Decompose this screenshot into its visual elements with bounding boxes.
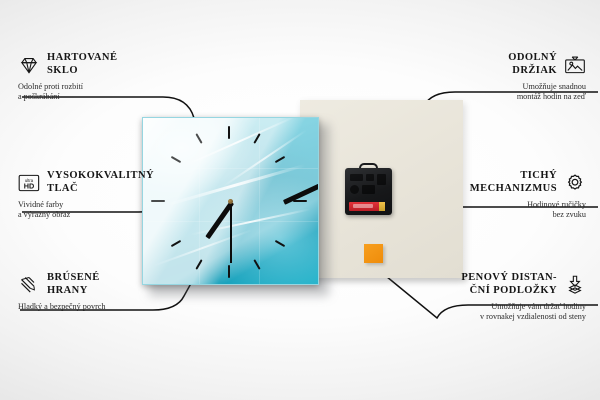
feature-title: ODOLNÝ DRŽIAK	[508, 52, 557, 77]
clock-tick	[228, 265, 230, 278]
feature-title: VYSOKOKVALITNÝ TLAČ	[47, 170, 154, 195]
feature-right-3: PENOVÝ DISTAN- ČNÍ PODLOŽKY Umožňuje vám…	[366, 272, 586, 322]
clock-tick	[228, 126, 230, 139]
mechanism-body	[345, 168, 392, 215]
svg-text:HD: HD	[24, 181, 35, 190]
clock-tick	[293, 200, 307, 202]
foam-spacer-icon	[564, 275, 586, 295]
mechanism-battery	[349, 202, 385, 211]
picture-hanger-icon	[564, 55, 586, 75]
feature-title: HARTOVANÉ SKLO	[47, 52, 117, 77]
feature-title: TICHÝ MECHANIZMUS	[470, 170, 557, 195]
feature-left-3: BRÚSENÉ HRANY Hladký a bezpečný povrch	[18, 272, 198, 312]
feature-desc: Umožňuje snadnou montáž hodin na zeď	[404, 82, 586, 102]
beveled-edges-icon	[18, 275, 40, 295]
feature-left-2: ultra HD VYSOKOKVALITNÝ TLAČ Vividné far…	[18, 170, 193, 220]
diamond-icon	[18, 55, 40, 75]
clock-center-cap	[228, 199, 233, 204]
feature-desc: Hladký a bezpečný povrch	[18, 302, 198, 312]
feature-desc: Vividné farby a výrazný obraz	[18, 200, 193, 220]
foam-spacer-pad	[364, 244, 383, 263]
feature-title: BRÚSENÉ HRANY	[47, 272, 100, 297]
feature-right-2: TICHÝ MECHANIZMUS Hodinové ručičky bez z…	[396, 170, 586, 220]
feature-desc: Hodinové ručičky bez zvuku	[396, 200, 586, 220]
ultra-hd-icon: ultra HD	[18, 173, 40, 193]
feature-title: PENOVÝ DISTAN- ČNÍ PODLOŽKY	[461, 272, 557, 297]
second-hand	[230, 201, 232, 263]
infographic-stage: HARTOVANÉ SKLO Odolné proti rozbití a po…	[0, 0, 600, 400]
feature-right-1: ODOLNÝ DRŽIAK Umožňuje snadnou montáž ho…	[404, 52, 586, 102]
gear-icon	[564, 173, 586, 193]
feature-desc: Odolné proti rozbití a poškrábání	[18, 82, 188, 102]
feature-desc: Umožňuje vám držať hodiny v rovnakej vzd…	[366, 302, 586, 322]
clock-mechanism	[345, 168, 392, 215]
feature-left-1: HARTOVANÉ SKLO Odolné proti rozbití a po…	[18, 52, 188, 102]
